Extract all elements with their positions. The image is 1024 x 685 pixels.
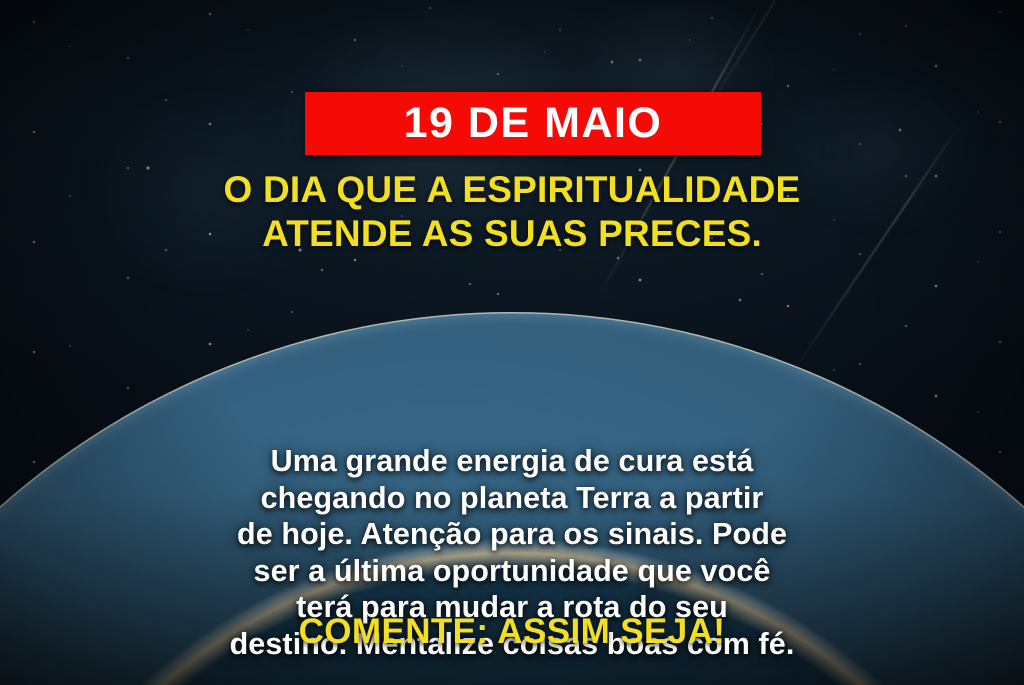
body-line-1: Uma grande energia de cura está — [50, 443, 974, 480]
date-banner: 19 DE MAIO — [305, 92, 761, 155]
call-to-action-text: COMENTE: ASSIM SEJA! — [299, 612, 726, 651]
body-line-2: chegando no planeta Terra a partir — [50, 480, 974, 517]
body-line-3: de hoje. Atenção para os sinais. Pode — [50, 516, 974, 553]
body-line-4: ser a última oportunidade que você — [50, 553, 974, 590]
date-banner-text: 19 DE MAIO — [404, 102, 663, 145]
poster-canvas: 19 DE MAIO O DIA QUE A ESPIRITUALIDADE A… — [0, 0, 1024, 685]
call-to-action: COMENTE: ASSIM SEJA! — [0, 613, 1024, 652]
headline: O DIA QUE A ESPIRITUALIDADE ATENDE AS SU… — [0, 168, 1024, 255]
headline-line-1: O DIA QUE A ESPIRITUALIDADE — [0, 168, 1024, 212]
poster-content: 19 DE MAIO O DIA QUE A ESPIRITUALIDADE A… — [0, 0, 1024, 685]
headline-line-2: ATENDE AS SUAS PRECES. — [0, 212, 1024, 256]
